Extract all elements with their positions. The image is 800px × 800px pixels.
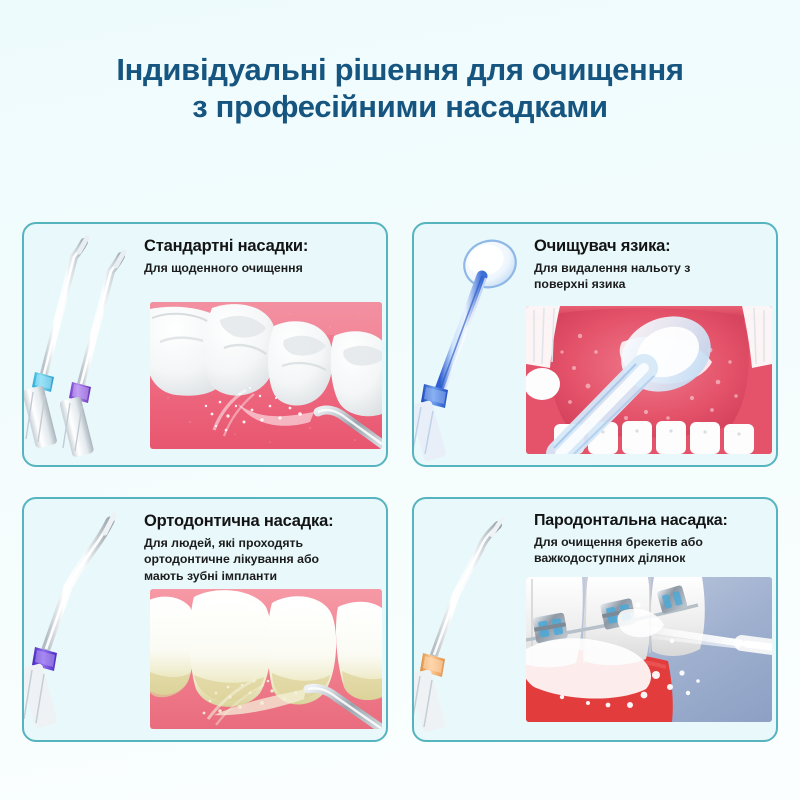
text-block-standard: Стандартні насадки: Для щоденного очищен… <box>144 237 378 276</box>
orthodontic-nozzle <box>24 515 114 729</box>
text-block-periodontal: Пародонтальна насадка: Для очищення брек… <box>534 512 768 567</box>
card-orthodontic-tip[interactable]: x1 Ортодонтична насадка: Для людей, які … <box>22 497 388 742</box>
card-desc-orthodontic: Для людей, які проходять ортодонтичне лі… <box>144 535 378 584</box>
card-title-tongue-cleaner: Очищувач язика: <box>534 237 768 256</box>
text-block-tongue-cleaner: Очищувач язика: Для видалення нальоту з … <box>534 237 768 293</box>
photo-molar-teeth-waterjet <box>150 302 382 449</box>
page-title-line-1: Індивідуальні рішення для очищення <box>0 52 800 89</box>
card-desc-standard: Для щоденного очищення <box>144 260 378 276</box>
card-title-periodontal: Пародонтальна насадка: <box>534 512 768 530</box>
card-desc-line: Для людей, які проходять <box>144 535 378 551</box>
nozzle-tip-in-photo <box>742 643 772 647</box>
photo-front-teeth-plaque-waterjet <box>150 589 382 729</box>
photo-braces-brackets-waterjet <box>526 577 772 722</box>
card-title-orthodontic: Ортодонтична насадка: <box>144 512 378 531</box>
photo-open-mouth-tongue-scraper <box>526 306 772 454</box>
card-desc-line: Для щоденного очищення <box>144 260 378 276</box>
tongue-scraper-nozzle <box>414 234 522 462</box>
page-title: Індивідуальні рішення для очищення з про… <box>0 0 800 125</box>
card-desc-line: Для видалення нальоту з <box>534 260 768 276</box>
text-block-orthodontic: Ортодонтична насадка: Для людей, які про… <box>144 512 378 584</box>
nozzle-illustration-tongue-cleaner <box>414 224 532 465</box>
card-title-standard: Стандартні насадки: <box>144 237 378 256</box>
card-desc-line: важкодоступних ділянок <box>534 550 768 566</box>
card-desc-line: мають зубні імпланти <box>144 568 378 584</box>
card-periodontal-tip[interactable]: x1 Пародонтальна насадка: Для очищення б… <box>412 497 778 742</box>
page-title-line-2: з професійними насадками <box>0 89 800 126</box>
card-desc-line: Для очищення брекетів або <box>534 534 768 550</box>
card-tongue-cleaner[interactable]: x1 Очищувач язика: Для видалення нальоту… <box>412 222 778 467</box>
nozzle-illustration-standard <box>24 224 142 465</box>
card-desc-line: ортодонтичне лікування або <box>144 551 378 567</box>
card-desc-line: поверхні язика <box>534 276 768 292</box>
nozzle-illustration-orthodontic <box>24 499 142 740</box>
nozzle-illustration-periodontal <box>414 499 532 740</box>
card-desc-periodontal: Для очищення брекетів або важкодоступних… <box>534 534 768 567</box>
nozzle-card-grid: x2 Стандартні насадки: Для щоденного очи… <box>22 222 778 742</box>
periodontal-nozzle <box>414 519 502 733</box>
card-standard-tips[interactable]: x2 Стандартні насадки: Для щоденного очи… <box>22 222 388 467</box>
card-desc-tongue-cleaner: Для видалення нальоту з поверхні язика <box>534 260 768 293</box>
